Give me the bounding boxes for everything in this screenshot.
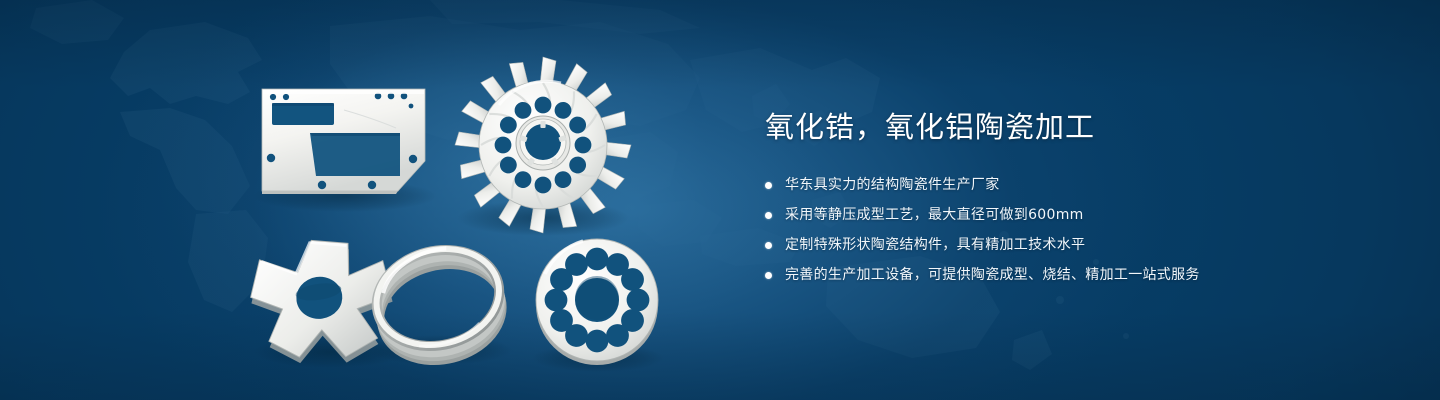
feature-text: 完善的生产加工设备，可提供陶瓷成型、烧结、精加工一站式服务 bbox=[785, 265, 1200, 285]
ceramic-plate-part bbox=[262, 89, 425, 194]
list-item: 华东具实力的结构陶瓷件生产厂家 bbox=[765, 173, 1385, 197]
feature-text: 采用等静压成型工艺，最大直径可做到600mm bbox=[785, 205, 1084, 225]
list-item: 完善的生产加工设备，可提供陶瓷成型、烧结、精加工一站式服务 bbox=[765, 263, 1385, 287]
ceramic-perforated-disc-part bbox=[536, 239, 658, 365]
feature-list: 华东具实力的结构陶瓷件生产厂家 采用等静压成型工艺，最大直径可做到600mm 定… bbox=[765, 173, 1385, 287]
dot-icon bbox=[765, 212, 772, 219]
feature-text: 定制特殊形状陶瓷结构件，具有精加工技术水平 bbox=[785, 235, 1085, 255]
dot-icon bbox=[765, 272, 772, 279]
list-item: 定制特殊形状陶瓷结构件，具有精加工技术水平 bbox=[765, 233, 1385, 257]
page-title: 氧化锆，氧化铝陶瓷加工 bbox=[765, 108, 1385, 146]
banner-copy-block: 氧化锆，氧化铝陶瓷加工 华东具实力的结构陶瓷件生产厂家 采用等静压成型工艺，最大… bbox=[765, 108, 1385, 287]
dot-icon bbox=[765, 182, 772, 189]
ceramic-products-group bbox=[0, 0, 720, 400]
feature-text: 华东具实力的结构陶瓷件生产厂家 bbox=[785, 175, 1000, 195]
list-item: 采用等静压成型工艺，最大直径可做到600mm bbox=[765, 203, 1385, 227]
dot-icon bbox=[765, 242, 772, 249]
hero-banner: 氧化锆，氧化铝陶瓷加工 华东具实力的结构陶瓷件生产厂家 采用等静压成型工艺，最大… bbox=[0, 0, 1440, 400]
ceramic-impeller-part bbox=[455, 57, 631, 233]
